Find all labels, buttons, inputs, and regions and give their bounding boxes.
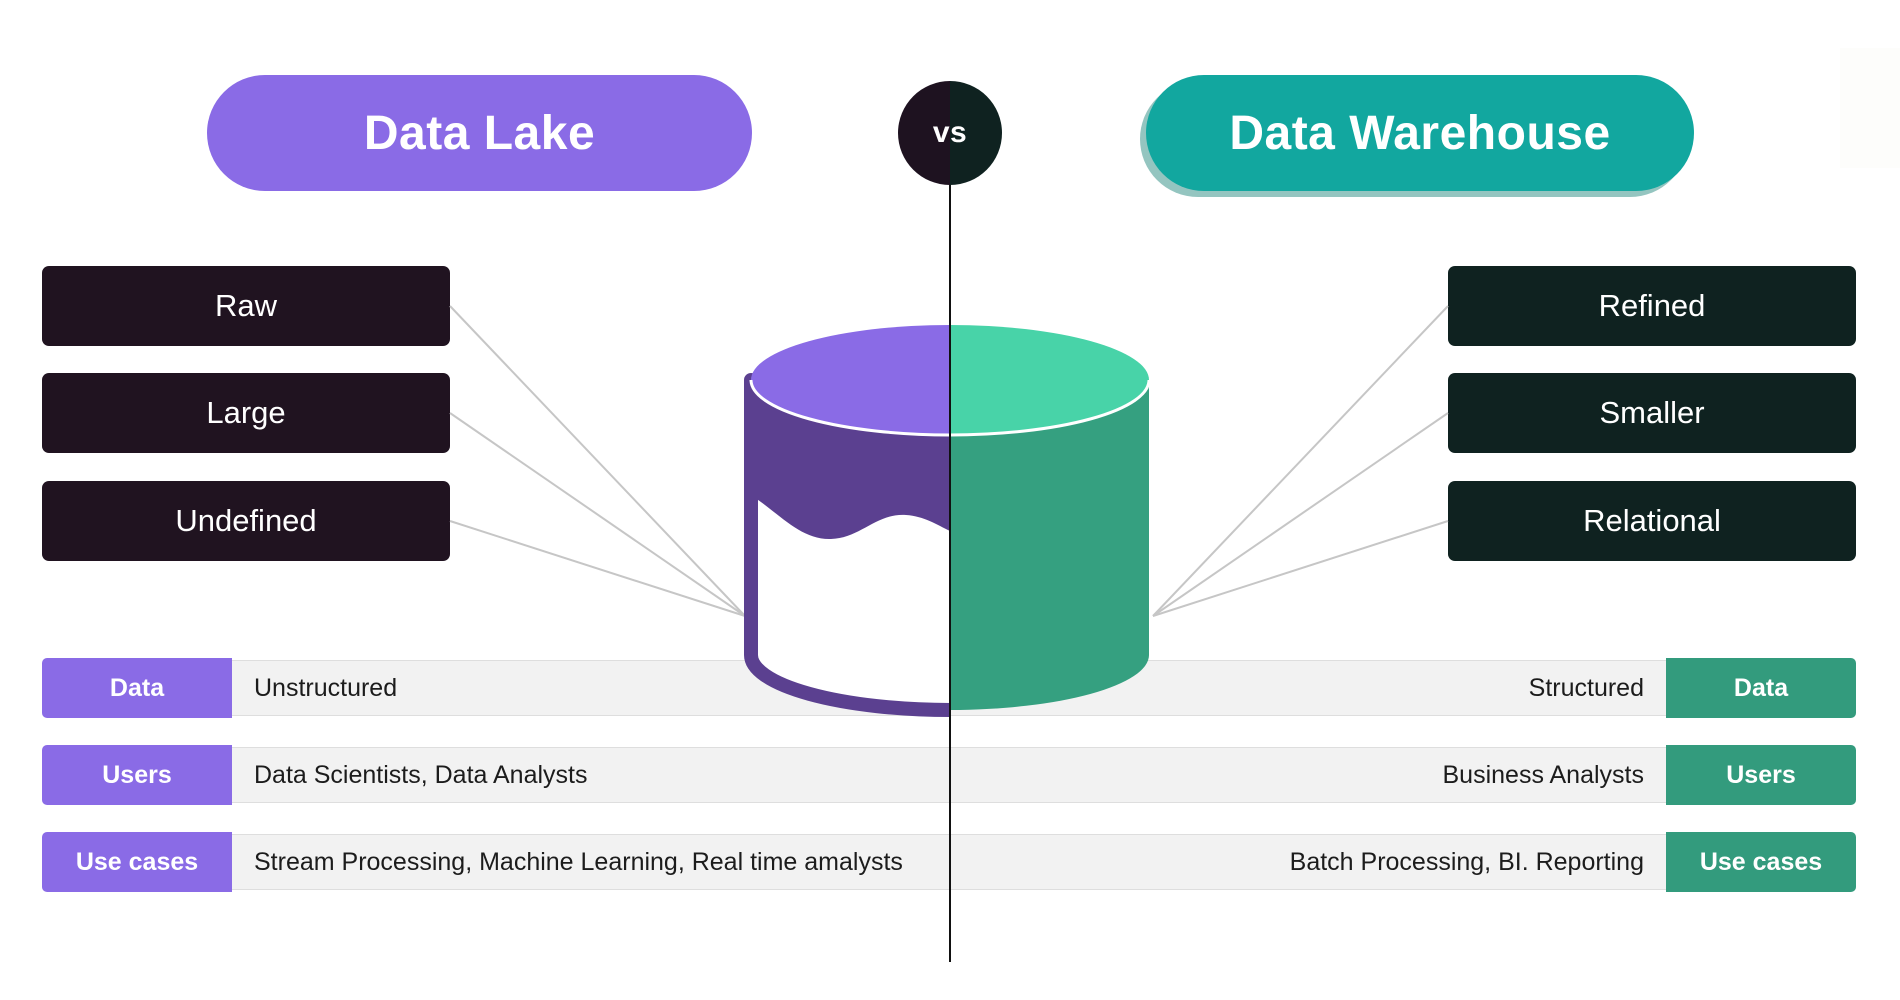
- comparison-left-value-data: Unstructured: [254, 658, 397, 718]
- feature-box-left-undefined: Undefined: [42, 481, 450, 561]
- comparison-right-value-users: Business Analysts: [1443, 745, 1645, 805]
- vs-badge: vs: [898, 81, 1002, 185]
- title-pill-data-warehouse: Data Warehouse: [1146, 75, 1694, 191]
- chip-label: Users: [102, 761, 172, 790]
- feature-label: Large: [206, 395, 285, 431]
- feature-box-right-relational: Relational: [1448, 481, 1856, 561]
- connector-right-2: [1153, 413, 1448, 616]
- comparison-left-label-data: Data: [42, 658, 232, 718]
- comparison-right-value-use-cases: Batch Processing, BI. Reporting: [1290, 832, 1644, 892]
- feature-box-left-raw: Raw: [42, 266, 450, 346]
- comparison-left-value-users: Data Scientists, Data Analysts: [254, 745, 587, 805]
- feature-label: Relational: [1583, 503, 1721, 539]
- feature-box-right-smaller: Smaller: [1448, 373, 1856, 453]
- connector-left-1: [450, 306, 745, 616]
- title-pill-data-lake-label: Data Lake: [364, 106, 595, 161]
- title-pill-data-warehouse-label: Data Warehouse: [1229, 106, 1610, 161]
- feature-box-right-refined: Refined: [1448, 266, 1856, 346]
- comparison-left-value-use-cases: Stream Processing, Machine Learning, Rea…: [254, 832, 903, 892]
- comparison-left-label-use-cases: Use cases: [42, 832, 232, 892]
- corner-panel-decoration: [1840, 48, 1900, 168]
- feature-label: Raw: [215, 288, 277, 324]
- comparison-left-label-users: Users: [42, 745, 232, 805]
- comparison-right-value-data: Structured: [1529, 658, 1644, 718]
- infographic-canvas: Data Lake Data Warehouse vs Raw Large Un…: [0, 0, 1900, 1000]
- vs-badge-label: vs: [933, 116, 967, 150]
- connector-right-1: [1153, 306, 1448, 616]
- feature-label: Undefined: [175, 503, 316, 539]
- center-divider-line: [949, 133, 951, 962]
- comparison-right-label-users: Users: [1666, 745, 1856, 805]
- chip-label: Data: [110, 674, 164, 703]
- connector-left-2: [450, 413, 745, 616]
- chip-label: Users: [1726, 761, 1796, 790]
- title-pill-data-lake: Data Lake: [207, 75, 752, 191]
- feature-label: Smaller: [1599, 395, 1704, 431]
- comparison-right-label-use-cases: Use cases: [1666, 832, 1856, 892]
- feature-label: Refined: [1599, 288, 1706, 324]
- feature-box-left-large: Large: [42, 373, 450, 453]
- connector-right-3: [1153, 521, 1448, 616]
- chip-label: Data: [1734, 674, 1788, 703]
- connector-left-3: [450, 521, 745, 616]
- chip-label: Use cases: [1700, 848, 1822, 877]
- comparison-right-label-data: Data: [1666, 658, 1856, 718]
- chip-label: Use cases: [76, 848, 198, 877]
